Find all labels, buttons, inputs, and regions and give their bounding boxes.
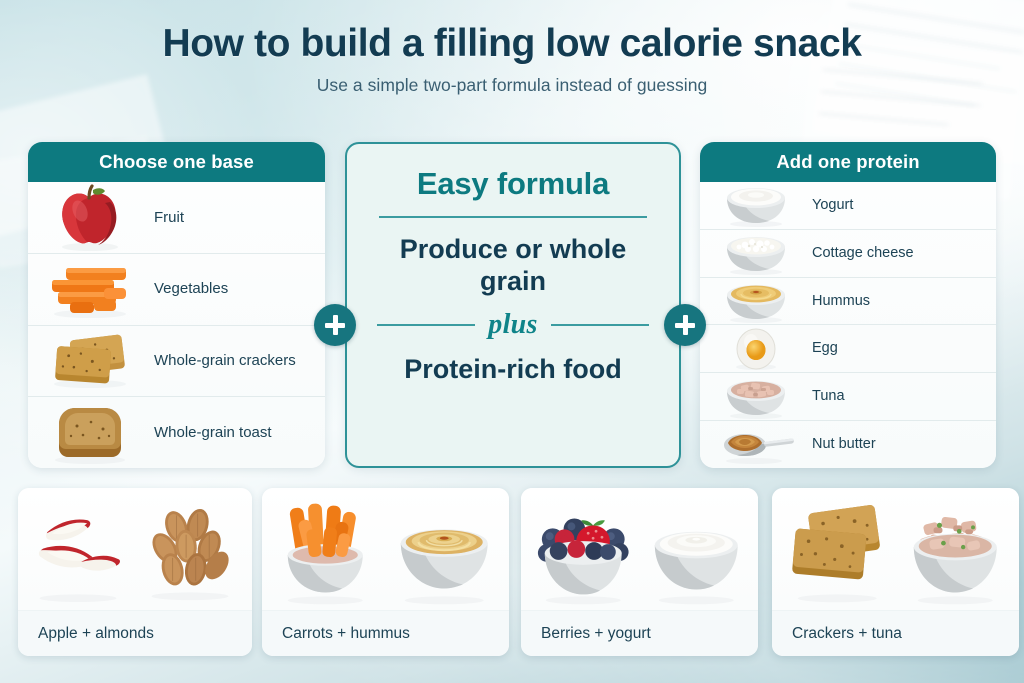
list-item[interactable]: Hummus	[700, 278, 996, 326]
panel-base-heading: Choose one base	[28, 142, 325, 182]
formula-card: Easy formula Produce or whole grain plus…	[345, 142, 681, 468]
toast-icon	[38, 397, 142, 468]
divider	[379, 216, 647, 218]
list-item-label: Whole-grain crackers	[142, 352, 313, 370]
carrot-bowl-icon	[272, 495, 379, 609]
list-item[interactable]: Whole-grain toast	[28, 397, 325, 468]
hummus-bowl-icon	[710, 278, 802, 325]
list-item[interactable]: Fruit	[28, 182, 325, 254]
yogurt-bowl-icon	[710, 182, 802, 229]
header: How to build a filling low calorie snack…	[0, 22, 1024, 96]
apple-icon	[38, 182, 142, 253]
list-item[interactable]: Nut butter	[700, 421, 996, 468]
berries-bowl-icon	[531, 495, 635, 609]
crackers-icon	[38, 326, 142, 397]
list-item-label: Yogurt	[802, 197, 984, 214]
example-card[interactable]: Crackers + tuna	[772, 488, 1019, 656]
page-subtitle: Use a simple two-part formula instead of…	[0, 75, 1024, 96]
list-item-label: Vegetables	[142, 280, 313, 298]
example-caption: Berries + yogurt	[521, 610, 758, 656]
cottage-cheese-bowl-icon	[710, 230, 802, 277]
list-item-label: Egg	[802, 340, 984, 357]
panel-add-one-protein: Add one protein Yogu	[700, 142, 996, 468]
example-image	[18, 488, 252, 610]
carrot-sticks-icon	[38, 254, 142, 325]
example-image	[262, 488, 509, 610]
crackers-icon	[782, 495, 892, 609]
example-image	[521, 488, 758, 610]
divider	[551, 324, 649, 326]
panel-protein-list: Yogurt	[700, 182, 996, 468]
list-item[interactable]: Whole-grain crackers	[28, 326, 325, 398]
list-item[interactable]: Vegetables	[28, 254, 325, 326]
list-item[interactable]: Egg	[700, 325, 996, 373]
formula-part-one: Produce or whole grain	[365, 234, 661, 297]
formula-title: Easy formula	[417, 166, 609, 202]
example-card[interactable]: Apple + almonds	[18, 488, 252, 656]
almonds-icon	[138, 496, 242, 608]
example-caption: Carrots + hummus	[262, 610, 509, 656]
yogurt-bowl-icon	[645, 495, 748, 609]
hummus-bowl-icon	[389, 495, 499, 609]
list-item[interactable]: Cottage cheese	[700, 230, 996, 278]
example-caption: Crackers + tuna	[772, 610, 1019, 656]
formula-connector-word: plus	[475, 309, 550, 341]
boiled-egg-icon	[710, 325, 802, 372]
plus-badge-right	[664, 304, 706, 346]
list-item-label: Whole-grain toast	[142, 424, 313, 442]
examples-row: Apple + almonds	[0, 488, 1024, 660]
panel-choose-one-base: Choose one base Frui	[28, 142, 325, 468]
list-item-label: Fruit	[142, 209, 313, 227]
list-item-label: Nut butter	[802, 436, 984, 453]
tuna-bowl-icon	[902, 495, 1009, 609]
panel-protein-heading: Add one protein	[700, 142, 996, 182]
list-item[interactable]: Yogurt	[700, 182, 996, 230]
list-item-label: Hummus	[802, 293, 984, 310]
list-item-label: Tuna	[802, 388, 984, 405]
list-item-label: Cottage cheese	[802, 245, 984, 262]
apple-slices-icon	[28, 496, 128, 608]
example-image	[772, 488, 1019, 610]
example-card[interactable]: Berries + yogurt	[521, 488, 758, 656]
example-card[interactable]: Carrots + hummus	[262, 488, 509, 656]
list-item[interactable]: Tuna	[700, 373, 996, 421]
divider	[377, 324, 475, 326]
example-caption: Apple + almonds	[18, 610, 252, 656]
plus-badge-left	[314, 304, 356, 346]
nut-butter-spoon-icon	[710, 421, 802, 468]
infographic-canvas: How to build a filling low calorie snack…	[0, 0, 1024, 683]
tuna-bowl-icon	[710, 373, 802, 420]
panels-row: Choose one base Frui	[0, 142, 1024, 472]
panel-base-list: Fruit	[28, 182, 325, 468]
formula-part-two: Protein-rich food	[404, 354, 622, 385]
formula-connector-row: plus	[377, 309, 649, 341]
page-title: How to build a filling low calorie snack	[0, 22, 1024, 66]
